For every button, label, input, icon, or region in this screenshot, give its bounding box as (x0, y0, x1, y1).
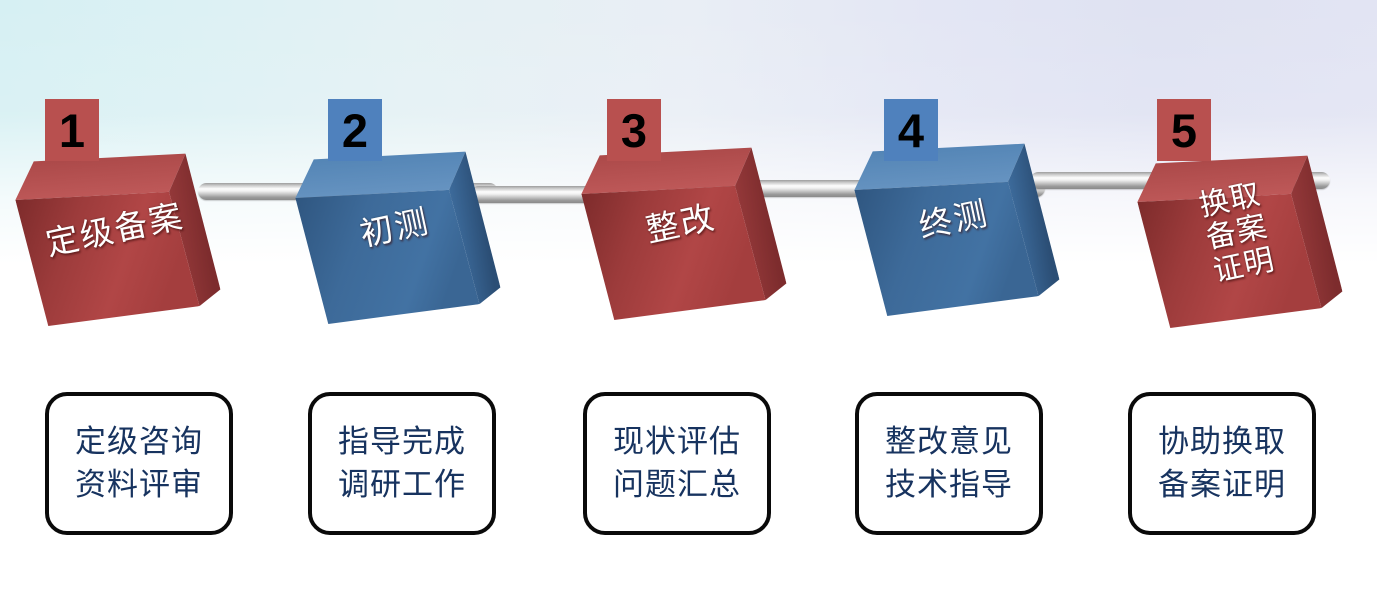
step-caption-text-1: 定级咨询 资料评审 (75, 421, 203, 507)
step-caption-box-2[interactable]: 指导完成 调研工作 (308, 392, 496, 535)
cube-faces (846, 113, 1062, 329)
step-cube-2[interactable]: 初测 (304, 138, 486, 320)
step-number-2: 2 (342, 107, 368, 154)
cube-faces (287, 121, 503, 337)
step-caption-box-4[interactable]: 整改意见 技术指导 (855, 392, 1043, 535)
step-badge-2: 2 (328, 99, 382, 161)
step-caption-box-5[interactable]: 协助换取 备案证明 (1128, 392, 1316, 535)
step-caption-box-3[interactable]: 现状评估 问题汇总 (583, 392, 771, 535)
cube-3d-shape (846, 113, 1062, 329)
step-number-4: 4 (898, 107, 924, 154)
step-cube-3[interactable]: 整改 (590, 134, 772, 316)
cube-faces (7, 123, 223, 339)
cube-3d-shape (573, 117, 789, 333)
step-cube-5[interactable]: 换取 备案 证明 (1146, 142, 1328, 324)
step-number-5: 5 (1171, 107, 1197, 154)
step-caption-text-3: 现状评估 问题汇总 (613, 421, 741, 507)
step-badge-5: 5 (1157, 99, 1211, 161)
step-caption-text-5: 协助换取 备案证明 (1158, 421, 1286, 507)
step-caption-text-4: 整改意见 技术指导 (885, 421, 1013, 507)
step-number-3: 3 (621, 107, 647, 154)
step-badge-4: 4 (884, 99, 938, 161)
step-cube-1[interactable]: 定级备案 (24, 140, 206, 322)
process-diagram: 定级备案 1 (0, 0, 1377, 599)
cube-faces (573, 117, 789, 333)
step-badge-3: 3 (607, 99, 661, 161)
step-number-1: 1 (59, 107, 85, 154)
cube-3d-shape (7, 123, 223, 339)
cube-3d-shape (287, 121, 503, 337)
step-badge-1: 1 (45, 99, 99, 161)
step-caption-text-2: 指导完成 调研工作 (338, 421, 466, 507)
step-caption-box-1[interactable]: 定级咨询 资料评审 (45, 392, 233, 535)
